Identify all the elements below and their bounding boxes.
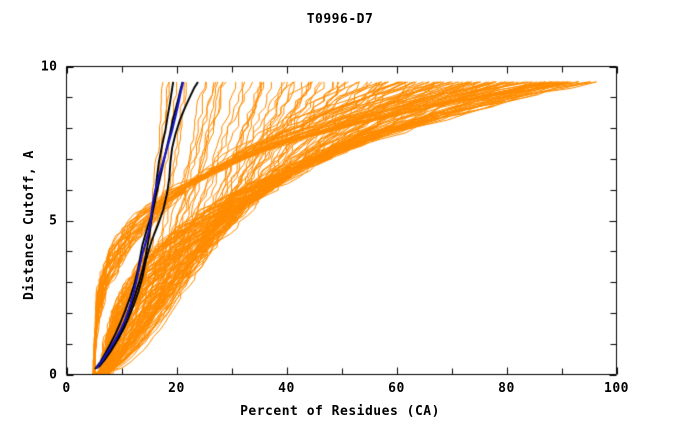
- x-tick-label: 20: [168, 381, 185, 396]
- x-tick-label: 100: [604, 381, 629, 396]
- chart-figure: T0996-D7 Percent of Residues (CA) Distan…: [0, 0, 680, 440]
- x-tick-label: 80: [498, 381, 515, 396]
- y-tick-label: 5: [0, 213, 58, 228]
- x-axis-label: Percent of Residues (CA): [0, 404, 680, 419]
- plot-canvas: [0, 0, 680, 440]
- y-tick-label: 0: [0, 367, 58, 382]
- x-tick-label: 0: [62, 381, 70, 396]
- y-tick-label: 10: [0, 59, 58, 74]
- x-tick-label: 60: [388, 381, 405, 396]
- x-tick-label: 40: [278, 381, 295, 396]
- chart-title: T0996-D7: [0, 12, 680, 27]
